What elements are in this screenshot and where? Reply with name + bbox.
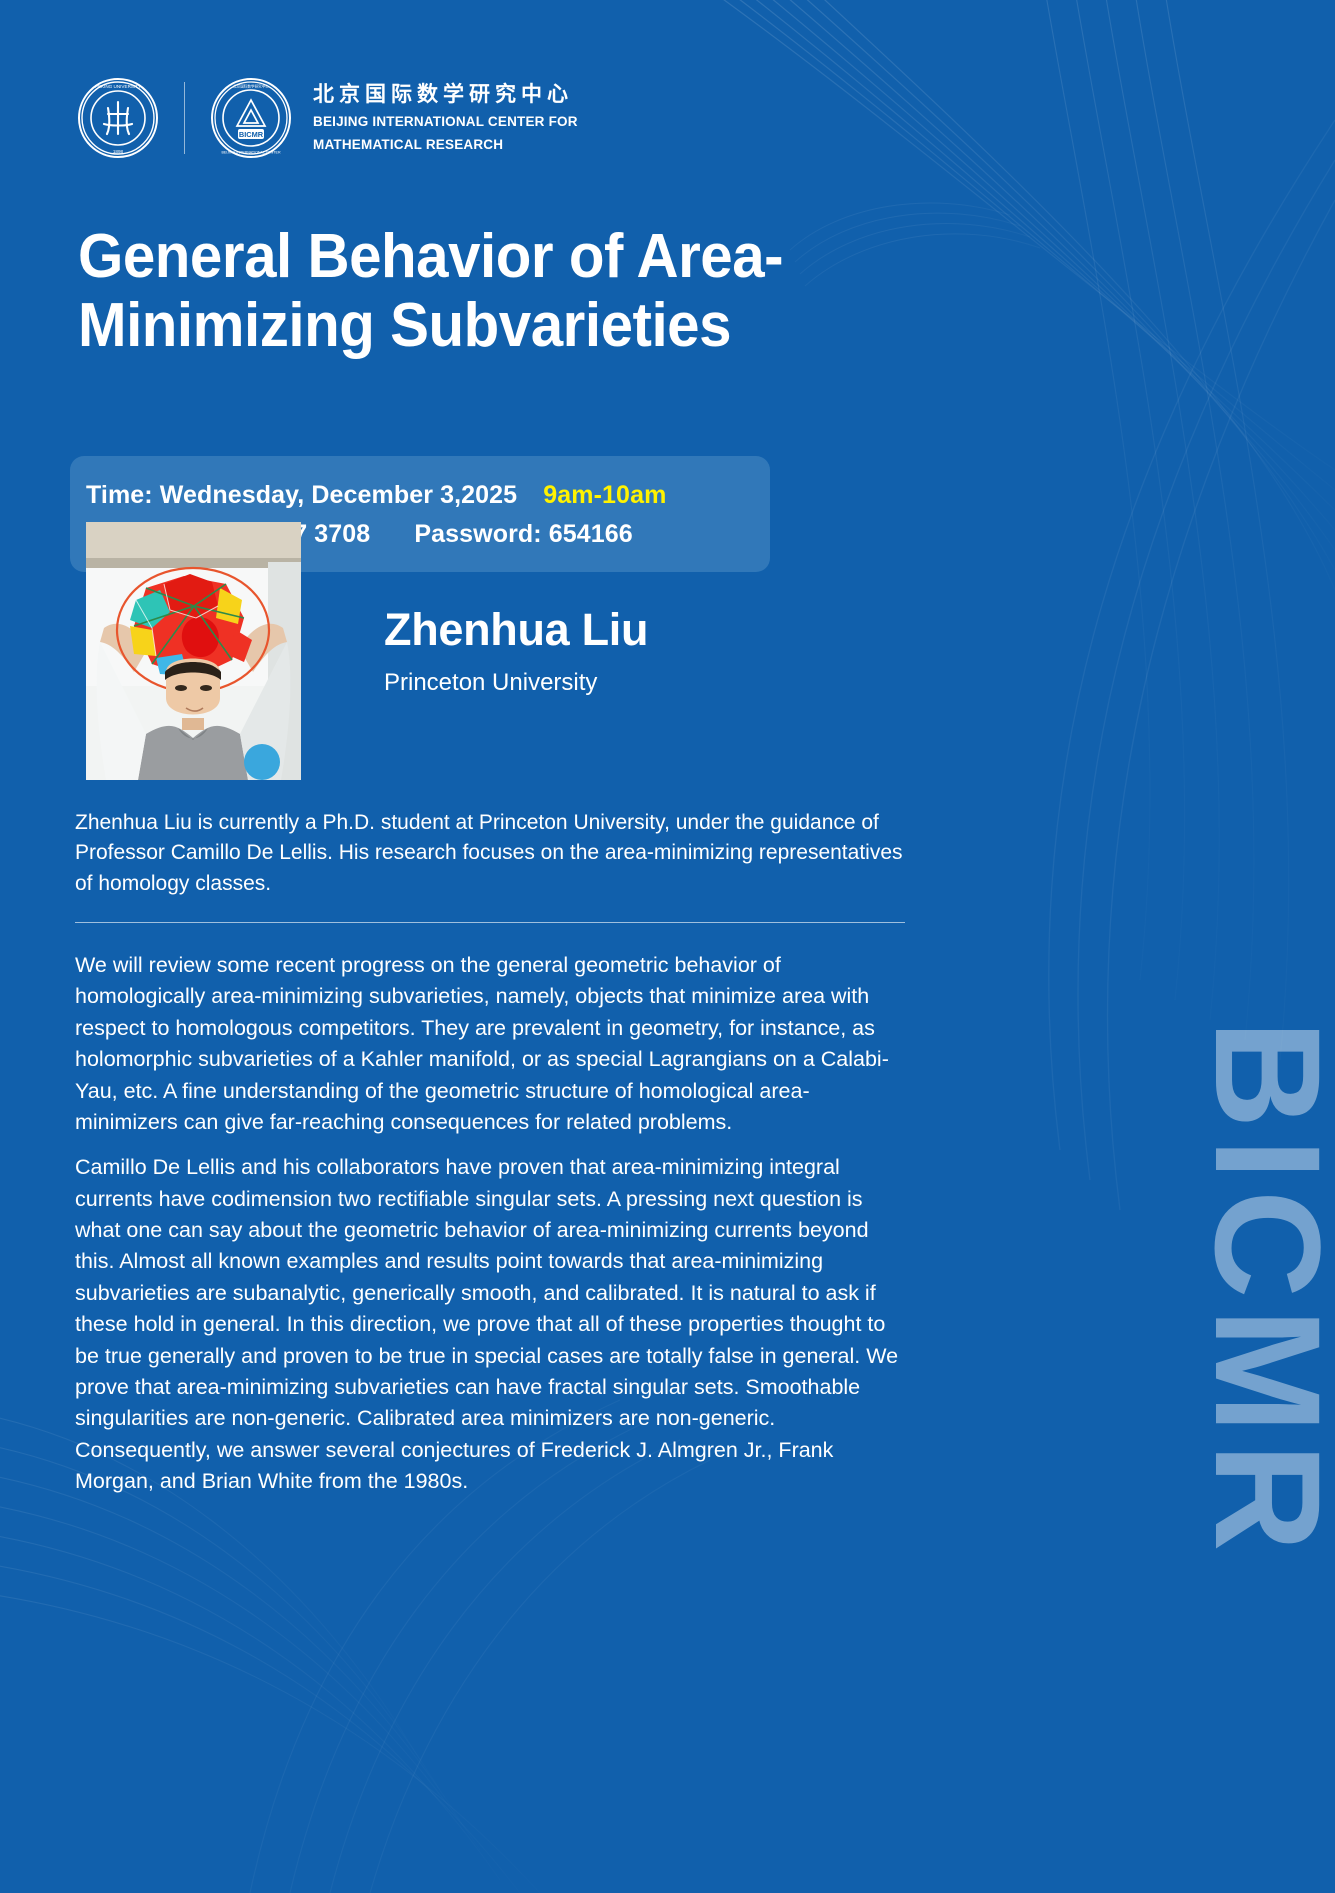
- bicmr-seal-icon: BICMR 北京国际数学研究中心 BEIJING INTERNATIONAL C…: [211, 78, 291, 158]
- svg-text:BEIJING INTERNATIONAL CENTER: BEIJING INTERNATIONAL CENTER: [221, 151, 281, 155]
- page-title: General Behavior of Area-Minimizing Subv…: [78, 222, 1018, 361]
- svg-text:1898: 1898: [113, 149, 124, 154]
- svg-text:北京国际数学研究中心: 北京国际数学研究中心: [233, 84, 269, 89]
- header-divider: [184, 82, 185, 154]
- speaker-affiliation: Princeton University: [384, 669, 648, 697]
- zoom-password-label: Password: 654166: [414, 520, 632, 548]
- speaker-photo: [86, 522, 301, 780]
- section-divider: [75, 922, 905, 923]
- abstract-paragraph-1: We will review some recent progress on t…: [75, 950, 905, 1138]
- org-name-en-line1: BEIJING INTERNATIONAL CENTER FOR: [313, 112, 578, 132]
- speaker-name: Zhenhua Liu: [384, 605, 648, 655]
- speaker-block: Zhenhua Liu Princeton University: [384, 605, 648, 697]
- bicmr-watermark: BICMR: [1193, 1020, 1335, 1562]
- peking-university-seal-icon: PEKING UNIVERSITY 1898: [78, 78, 158, 158]
- org-name-cn: 北京国际数学研究中心: [313, 81, 578, 107]
- svg-text:PEKING UNIVERSITY: PEKING UNIVERSITY: [95, 84, 141, 89]
- poster-root: PEKING UNIVERSITY 1898 BICMR 北京国际数学研究中心 …: [0, 0, 1335, 1893]
- event-time-value: 9am-10am: [543, 481, 666, 509]
- speaker-bio: Zhenhua Liu is currently a Ph.D. student…: [75, 808, 905, 899]
- organization-name: 北京国际数学研究中心 BEIJING INTERNATIONAL CENTER …: [313, 81, 578, 154]
- event-time-label: Time: Wednesday, December 3,2025: [86, 481, 517, 509]
- header-logos: PEKING UNIVERSITY 1898 BICMR 北京国际数学研究中心 …: [78, 78, 578, 158]
- event-time-line: Time: Wednesday, December 3,2025 9am-10a…: [86, 476, 770, 515]
- org-name-en-line2: MATHEMATICAL RESEARCH: [313, 135, 578, 155]
- abstract-block: We will review some recent progress on t…: [75, 950, 905, 1511]
- svg-text:BICMR: BICMR: [239, 130, 264, 139]
- abstract-paragraph-2: Camillo De Lellis and his collaborators …: [75, 1152, 905, 1497]
